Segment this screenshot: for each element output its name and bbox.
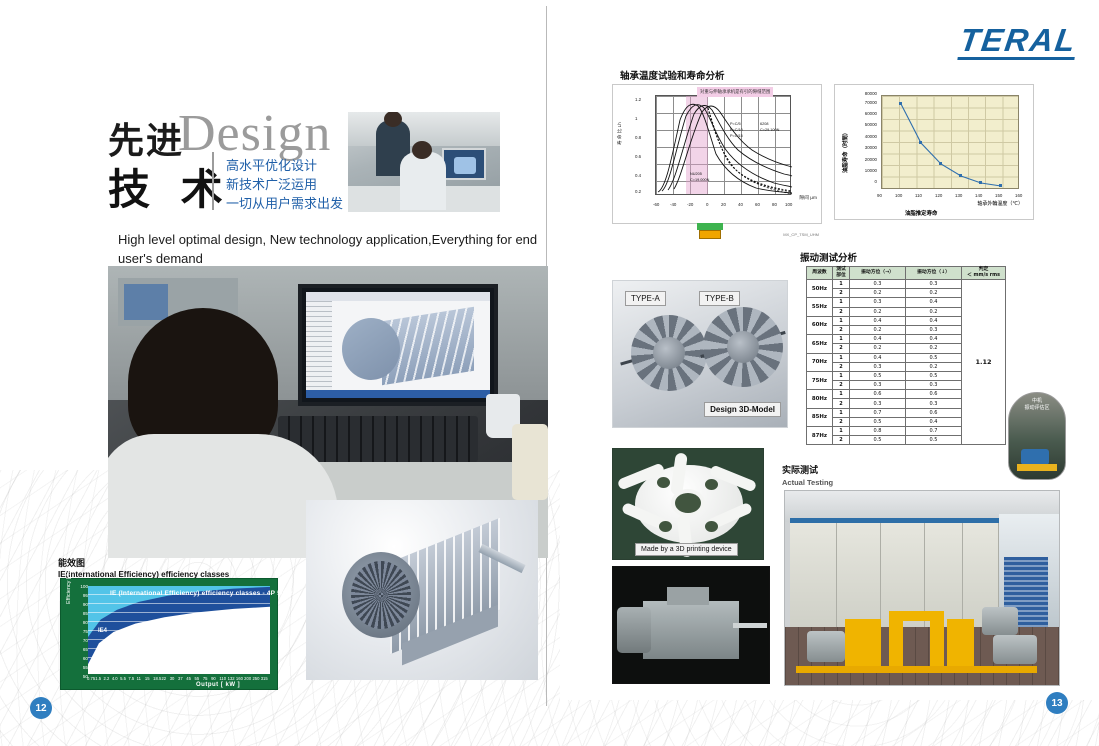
vibration-value-vertical: 0.5 [906, 436, 962, 445]
vibration-value-horizontal: 0.3 [850, 280, 906, 289]
vibration-value-horizontal: 0.8 [850, 427, 906, 436]
title-sub-lines: 高水平优化设计 新技术广泛运用 一切从用户需求出发 [226, 157, 343, 214]
title-sub-line-2: 新技术广泛运用 [226, 176, 343, 195]
efficiency-chart-xlabel: Output [ kW ] [196, 682, 240, 688]
grease-ytick-60000: 60000 [837, 111, 877, 116]
efficiency-legend-ie2: IE2 [114, 650, 123, 656]
vibration-value-vertical: 0.5 [906, 353, 962, 362]
efficiency-xtick-2.2: 2.2 [104, 676, 110, 681]
actual-testing-heading-cn: 实际测试 [782, 463, 818, 476]
grease-ytick-50000: 50000 [837, 122, 877, 127]
efficiency-xtick-55: 55 [195, 676, 200, 681]
printed-fan-caption: Made by a 3D printing device [635, 543, 738, 556]
bearing-ytick-0_6: 0.6 [635, 154, 641, 159]
bearing-annotation-nu205: NU205 [690, 172, 702, 176]
vibration-frequency-cell: 70Hz [807, 353, 833, 371]
vibration-value-vertical: 0.7 [906, 427, 962, 436]
lab-test-guard-left [845, 619, 881, 666]
vibration-position-cell: 1 [833, 408, 850, 417]
vibration-value-vertical: 0.5 [906, 371, 962, 380]
efficiency-xtick-75: 75 [203, 676, 208, 681]
vibration-position-cell: 2 [833, 399, 850, 408]
real-motor-shaft [733, 623, 767, 628]
vibration-column-header-0: 周波数 [807, 267, 833, 280]
bearing-chart-callout-note: 对重与伸轴承承机是有引的隙缝范围 [697, 87, 773, 97]
bearing-ytick-0_8: 0.8 [635, 135, 641, 140]
vibration-value-vertical: 0.6 [906, 408, 962, 417]
efficiency-xtick-1.5: 1.5 [95, 676, 101, 681]
efficiency-xtick-22: 22 [161, 676, 166, 681]
efficiency-legend-ie1: IE1 [122, 661, 131, 667]
bearing-section-heading: 轴承温度试验和寿命分析 [620, 68, 725, 82]
vibration-value-horizontal: 0.2 [850, 344, 906, 353]
title-sub-line-1: 高水平优化设计 [226, 157, 343, 176]
vibration-value-vertical: 0.3 [906, 280, 962, 289]
vibration-position-cell: 1 [833, 353, 850, 362]
efficiency-ytick-60: 60 [83, 656, 88, 661]
efficiency-chart-title: IE (International Efficiency) efficiency… [110, 590, 293, 597]
page-title-design-word: Design [178, 104, 331, 163]
bearing-xtick-40: 40 [738, 202, 743, 207]
vibration-position-cell: 2 [833, 289, 850, 298]
bearing-xtick-20: 20 [721, 202, 726, 207]
vibration-value-horizontal: 0.3 [850, 399, 906, 408]
lab-cabinet-header-strip [790, 518, 998, 523]
vibration-frequency-cell: 60Hz [807, 316, 833, 334]
cad-monitor [298, 284, 498, 406]
vibration-column-header-4: 判定＜ mm/s rms [962, 267, 1006, 280]
cad-engineer-coat [108, 434, 338, 558]
teral-logo: TERAL [958, 22, 1080, 60]
vibration-column-header-3: 振动方位（↓） [906, 267, 962, 280]
vibration-position-cell: 1 [833, 280, 850, 289]
bearing-xtick-60: 60 [755, 202, 760, 207]
efficiency-xtick-90: 90 [211, 676, 216, 681]
efficiency-xtick-0.75: 0.75 [87, 676, 95, 681]
vibration-value-vertical: 0.4 [906, 417, 962, 426]
grease-xtick-140: 140 [975, 193, 982, 198]
vibration-value-horizontal: 0.5 [850, 371, 906, 380]
bearing-xtick-0: 0 [706, 202, 708, 207]
efficiency-legend-ie4: IE4 [98, 628, 107, 634]
efficiency-ytick-95: 95 [83, 593, 88, 598]
efficiency-legend-ie3: IE3 [106, 640, 115, 646]
vibration-value-horizontal: 0.7 [850, 408, 906, 417]
vibration-column-header-1: 测试部位 [833, 267, 850, 280]
vibration-section-heading: 振动测试分析 [800, 250, 857, 264]
bearing-chart-curves [656, 96, 794, 198]
printed-fan-hole-4 [705, 521, 718, 532]
grease-xtick-100: 100 [895, 193, 902, 198]
vibration-value-horizontal: 0.6 [850, 390, 906, 399]
vibration-value-horizontal: 0.2 [850, 289, 906, 298]
vibration-frequency-cell: 80Hz [807, 390, 833, 408]
vibration-column-header-2: 振动方位（→） [850, 267, 906, 280]
bearing-chart-green-marker [697, 223, 723, 230]
vibration-position-cell: 2 [833, 436, 850, 445]
efficiency-chart-yticks: 10095908580757065605550 [76, 584, 88, 676]
vibration-frequency-cell: 87Hz [807, 427, 833, 445]
bearing-annotation-6208: 6208 [760, 122, 768, 126]
vibration-value-horizontal: 0.2 [850, 307, 906, 316]
efficiency-xtick-160: 160 [236, 676, 243, 681]
cad-feature-tree [306, 301, 332, 390]
vibration-value-vertical: 0.6 [906, 390, 962, 399]
efficiency-ytick-65: 65 [83, 647, 88, 652]
real-motor-photo [612, 566, 770, 684]
grease-xtick-150: 150 [995, 193, 1002, 198]
vibration-value-vertical: 0.4 [906, 298, 962, 307]
vibration-position-cell: 1 [833, 335, 850, 344]
page-number-left: 12 [30, 697, 52, 719]
title-english-caption: High level optimal design, New technolog… [118, 230, 538, 268]
office-monitor [442, 148, 486, 180]
vibration-value-horizontal: 0.3 [850, 298, 906, 307]
test-laboratory-photo [784, 490, 1060, 686]
vibration-analysis-table: 周波数测试部位振动方位（→）振动方位（↓）判定＜ mm/s rms50Hz10.… [806, 266, 1006, 445]
bearing-xtick-n40: -40 [670, 202, 676, 207]
grease-chart-series [881, 95, 1021, 191]
efficiency-xtick-37: 37 [178, 676, 183, 681]
vibration-position-cell: 2 [833, 417, 850, 426]
vibration-value-horizontal: 0.4 [850, 316, 906, 325]
site-photo-caption: 中机振动评估区 [1006, 398, 1068, 412]
office-person-seated [400, 152, 446, 210]
teral-logo-text: TERAL [958, 22, 1080, 58]
grease-xtick-110: 110 [915, 193, 922, 198]
bearing-life-chart: 寿 命 比 Lh 1.2 1 0.8 0.6 0.4 0.2 P=C/5 P=C… [612, 84, 822, 224]
efficiency-xtick-315: 315 [261, 676, 268, 681]
vibration-position-cell: 2 [833, 325, 850, 334]
efficiency-xtick-200: 200 [244, 676, 251, 681]
efficiency-ytick-85: 85 [83, 611, 88, 616]
fan-design-caption: Design 3D-Model [704, 402, 781, 417]
efficiency-ytick-100: 100 [80, 584, 88, 589]
efficiency-xtick-15: 15 [145, 676, 150, 681]
bearing-annotation-p-c5: P=C/5 [730, 122, 741, 126]
vibration-value-horizontal: 0.5 [850, 417, 906, 426]
vibration-value-vertical: 0.3 [906, 399, 962, 408]
printed-fan-hole-3 [659, 521, 672, 532]
bearing-ytick-0_2: 0.2 [635, 189, 641, 194]
fan-a-hub [653, 337, 685, 369]
title-sub-line-3: 一切从用户需求出发 [226, 195, 343, 214]
actual-testing-heading-en: Actual Testing [782, 478, 833, 487]
fan-type-a-label: TYPE-A [625, 291, 666, 306]
efficiency-chart-plot-area [88, 586, 270, 674]
fan-3d-model-photo: TYPE-A TYPE-B Design 3D-Model [612, 280, 788, 428]
efficiency-ytick-90: 90 [83, 602, 88, 607]
lab-test-guard-right [947, 619, 974, 666]
bearing-xtick-n20: -20 [687, 202, 693, 207]
lab-test-bed-base [796, 666, 1037, 673]
lab-cabinet-1 [790, 518, 837, 627]
efficiency-xtick-7.5: 7.5 [128, 676, 134, 681]
efficiency-heading-cn: 能效图 [58, 556, 229, 569]
lab-motor-right [982, 607, 1018, 634]
grease-ytick-0: 0 [837, 179, 877, 184]
printed-fan-photo: Made by a 3D printing device [612, 448, 764, 560]
bearing-chart-footer-code: MX_CP_TSM_UHM [783, 232, 819, 237]
real-motor-fan-cover [617, 607, 651, 653]
site-motor [1021, 449, 1049, 465]
grease-chart-xlabel-secondary: 油脂推定寿命 [905, 209, 937, 217]
efficiency-xtick-30: 30 [170, 676, 175, 681]
real-motor-terminal-box [667, 587, 709, 605]
bearing-chart-xlabel: 隙间 μm [799, 194, 817, 201]
motor-3d-render-photo [306, 500, 538, 680]
grease-ytick-80000: 80000 [837, 91, 877, 96]
bearing-annotation-p-c15: P=C/15 [730, 134, 743, 138]
vibration-value-horizontal: 0.3 [850, 381, 906, 390]
motor-render-fan-cover [342, 552, 420, 638]
cad-taskbar [306, 390, 490, 398]
bearing-xtick-n60: -60 [653, 202, 659, 207]
vibration-value-horizontal: 0.4 [850, 335, 906, 344]
lab-cabinet-2 [837, 518, 881, 627]
vibration-value-vertical: 0.2 [906, 289, 962, 298]
bearing-ytick-1_2: 1.2 [635, 97, 641, 102]
efficiency-ytick-80: 80 [83, 620, 88, 625]
vibration-position-cell: 2 [833, 344, 850, 353]
site-yellow-base [1017, 464, 1057, 471]
title-divider-rule [212, 152, 214, 210]
printed-fan-bore [675, 493, 701, 513]
cad-telephone [512, 424, 548, 500]
vibration-frequency-cell: 85Hz [807, 408, 833, 426]
bearing-annotation-p-c10: P=C/10 [730, 128, 743, 132]
fan-type-b-label: TYPE-B [699, 291, 740, 306]
lab-motor-left [807, 631, 845, 662]
lab-test-frame-left [889, 621, 903, 666]
efficiency-xtick-45: 45 [186, 676, 191, 681]
efficiency-xtick-4.0: 4.0 [112, 676, 118, 681]
vibration-position-cell: 1 [833, 371, 850, 380]
vibration-value-horizontal: 0.5 [850, 436, 906, 445]
vibration-value-vertical: 0.2 [906, 344, 962, 353]
efficiency-xtick-110: 110 [219, 676, 226, 681]
vibration-frequency-cell: 50Hz [807, 280, 833, 298]
efficiency-ytick-75: 75 [83, 629, 88, 634]
bearing-annotation-nu205-c: C=19.000N [690, 178, 709, 182]
efficiency-xtick-18.5: 18.5 [153, 676, 161, 681]
cad-toolbar [306, 292, 490, 301]
efficiency-chart-ylabel: Efficiency [ % ] [66, 568, 72, 604]
efficiency-xtick-11: 11 [137, 676, 141, 681]
grease-xtick-130: 130 [955, 193, 962, 198]
vibration-frequency-cell: 55Hz [807, 298, 833, 316]
table-row: 50Hz10.30.31.12 [807, 280, 1006, 289]
bearing-xtick-80: 80 [772, 202, 777, 207]
bearing-ytick-1_0: 1 [635, 116, 637, 121]
vibration-value-vertical: 0.2 [906, 362, 962, 371]
real-motor-body [643, 601, 739, 659]
lab-motor-far-right [993, 635, 1037, 664]
printed-fan-hole-1 [657, 477, 670, 488]
vibration-position-cell: 2 [833, 307, 850, 316]
lab-test-frame-right [930, 621, 944, 666]
grease-chart-xlabel: 轴承外輪温度（℃） [977, 200, 1023, 207]
vibration-frequency-cell: 65Hz [807, 335, 833, 353]
vibration-frequency-cell: 75Hz [807, 371, 833, 389]
grease-ytick-70000: 70000 [837, 100, 877, 105]
efficiency-ytick-55: 55 [83, 665, 88, 670]
vibration-value-horizontal: 0.2 [850, 325, 906, 334]
bearing-ytick-0_4: 0.4 [635, 173, 641, 178]
bearing-chart-orange-marker [699, 230, 721, 239]
vibration-position-cell: 1 [833, 298, 850, 307]
vibration-value-vertical: 0.4 [906, 335, 962, 344]
vibration-value-vertical: 0.4 [906, 316, 962, 325]
vibration-position-cell: 1 [833, 427, 850, 436]
vibration-position-cell: 1 [833, 316, 850, 325]
efficiency-ytick-70: 70 [83, 638, 88, 643]
bearing-annotation-c-value: C=29.100N [760, 128, 779, 132]
cad-motor-endface [342, 318, 400, 380]
page-number-right: 13 [1046, 692, 1068, 714]
vibration-value-vertical: 0.3 [906, 381, 962, 390]
grease-life-chart: 0 10000 20000 30000 40000 50000 60000 70… [834, 84, 1034, 220]
brochure-page: TERAL 先进 Design 技 术 高水平优化设计 新技术广泛运用 一切从用… [0, 0, 1099, 746]
vibration-position-cell: 1 [833, 390, 850, 399]
vibration-value-vertical: 0.3 [906, 325, 962, 334]
efficiency-xtick-250: 250 [252, 676, 259, 681]
grease-chart-ylabel: 油脂寿命（时間） [841, 130, 849, 173]
efficiency-chart-gridlines [88, 586, 270, 674]
vibration-value-horizontal: 0.3 [850, 362, 906, 371]
bearing-chart-plot-area: P=C/5 P=C/10 P=C/15 6208 C=29.100N NU205… [655, 95, 791, 195]
lab-test-frame-top [889, 611, 944, 621]
grease-xtick-90: 90 [877, 193, 882, 198]
vibration-judgement-value: 1.12 [962, 280, 1006, 445]
vibration-position-cell: 2 [833, 362, 850, 371]
cad-motor-model [342, 310, 474, 386]
office-design-photo [348, 112, 500, 212]
efficiency-xtick-5.5: 5.5 [120, 676, 126, 681]
vibration-value-vertical: 0.2 [906, 307, 962, 316]
efficiency-xtick-132: 132 [228, 676, 235, 681]
fan-b-hub [727, 331, 759, 363]
efficiency-section-heading: 能效图 IE(International Efficiency) efficie… [58, 556, 229, 579]
bearing-xtick-100: 100 [785, 202, 792, 207]
grease-xtick-160: 160 [1015, 193, 1022, 198]
bearing-chart-ylabel: 寿 命 比 Lh [617, 122, 623, 145]
grease-xtick-120: 120 [935, 193, 942, 198]
vibration-value-horizontal: 0.4 [850, 353, 906, 362]
vibration-position-cell: 2 [833, 381, 850, 390]
printed-fan-hole-2 [705, 479, 718, 490]
